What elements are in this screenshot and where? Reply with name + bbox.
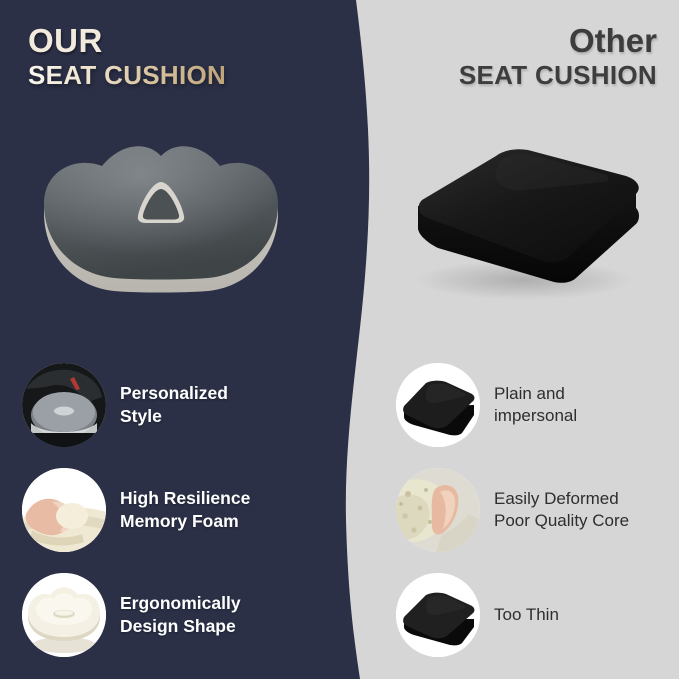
feature-personalized-style: Personalized Style <box>22 363 322 447</box>
plain-black-cushion-thumbnail <box>396 363 480 447</box>
feature-too-thin-label: Too Thin <box>494 604 559 626</box>
feature-line: Easily Deformed <box>494 488 629 510</box>
feature-memory-foam-label: High Resilience Memory Foam <box>120 487 250 533</box>
feature-line: Memory Foam <box>120 510 250 533</box>
feature-memory-foam: High Resilience Memory Foam <box>22 468 322 552</box>
other-header-line2: SEAT CUSHION <box>459 59 657 92</box>
our-header: OUR SEAT CUSHION <box>28 24 226 91</box>
feature-too-thin: Too Thin <box>396 573 668 657</box>
feature-plain-impersonal: Plain and impersonal <box>396 363 668 447</box>
other-header-line1: Other <box>459 24 657 59</box>
feature-personalized-style-label: Personalized Style <box>120 382 228 428</box>
feature-plain-impersonal-label: Plain and impersonal <box>494 383 577 427</box>
deformed-foam-thumbnail <box>396 468 480 552</box>
our-header-line1: OUR <box>28 24 226 59</box>
our-hero-cushion-image <box>36 126 286 301</box>
feature-line: Too Thin <box>494 604 559 626</box>
thin-black-cushion-thumbnail <box>396 573 480 657</box>
comparison-infographic: OUR SEAT CUSHION <box>0 0 679 679</box>
feature-deformed-core-label: Easily Deformed Poor Quality Core <box>494 488 629 532</box>
memory-foam-icon <box>22 468 106 552</box>
feature-line: Personalized <box>120 382 228 405</box>
foam-core-icon <box>22 573 106 657</box>
cushion-on-chair-thumbnail <box>22 363 106 447</box>
chair-cushion-icon <box>22 363 106 447</box>
ergonomic-cushion-illustration <box>36 126 286 301</box>
feature-ergonomic-shape: Ergonomically Design Shape <box>22 573 322 657</box>
feature-line: impersonal <box>494 405 577 427</box>
our-header-line2: SEAT CUSHION <box>28 59 226 92</box>
foam-core-thumbnail <box>22 573 106 657</box>
hand-pressing-foam-thumbnail <box>22 468 106 552</box>
thin-cushion-icon <box>396 573 480 657</box>
feature-ergonomic-shape-label: Ergonomically Design Shape <box>120 592 241 638</box>
feature-line: Poor Quality Core <box>494 510 629 532</box>
feature-line: Style <box>120 405 228 428</box>
feature-line: Plain and <box>494 383 577 405</box>
black-cushion-icon <box>396 363 480 447</box>
deformed-foam-icon <box>396 468 480 552</box>
feature-line: Ergonomically <box>120 592 241 615</box>
feature-line: Design Shape <box>120 615 241 638</box>
other-hero-cushion-image <box>404 132 649 307</box>
feature-line: High Resilience <box>120 487 250 510</box>
plain-black-cushion-illustration <box>404 132 649 307</box>
other-header: Other SEAT CUSHION <box>459 24 657 91</box>
feature-deformed-core: Easily Deformed Poor Quality Core <box>396 468 668 552</box>
